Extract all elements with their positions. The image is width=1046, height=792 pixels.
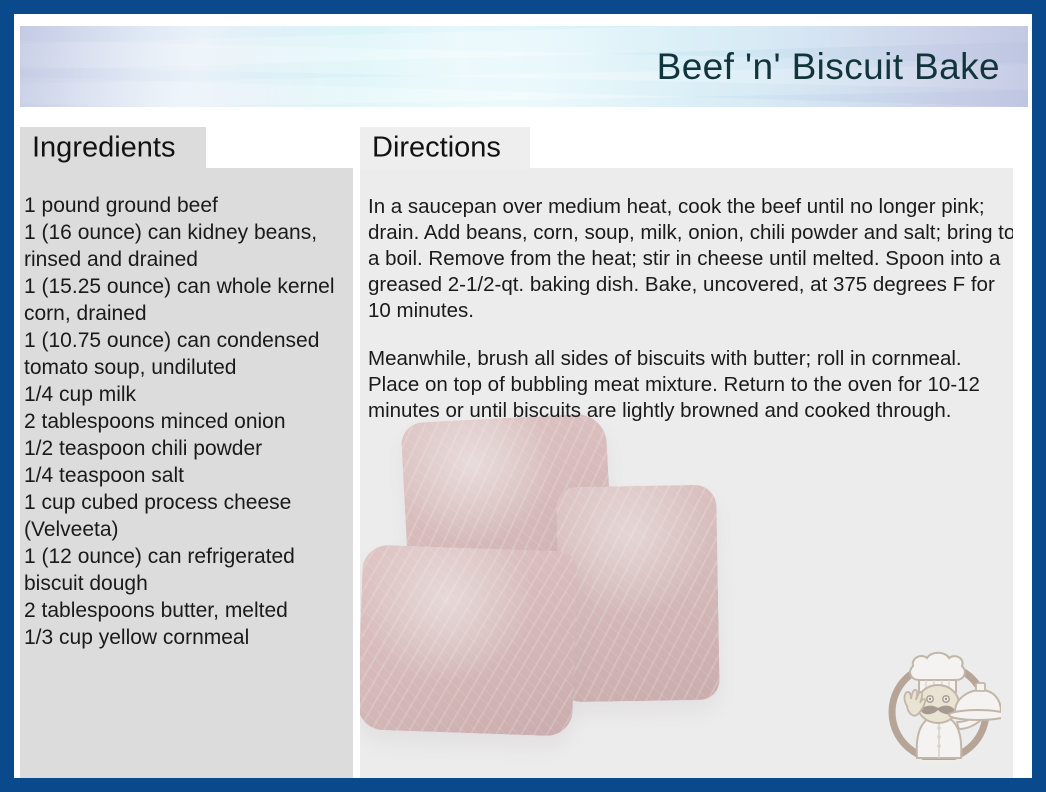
tab-ingredients[interactable]: Ingredients [20,127,206,169]
list-item: 1/4 cup milk [24,381,346,408]
list-item: 1/3 cup yellow cornmeal [24,624,346,651]
frame-border-right [1032,0,1046,792]
tab-ingredients-label: Ingredients [32,132,176,165]
list-item: 1 pound ground beef [24,192,346,219]
directions-text: In a saucepan over medium heat, cook the… [368,194,1013,446]
list-item: 1 (16 ounce) can kidney beans, rinsed an… [24,219,346,273]
list-item: 2 tablespoons minced onion [24,408,346,435]
frame-border-bottom [0,778,1046,792]
frame-border-top [0,0,1046,14]
frame-border-left [0,0,14,792]
list-item: 1/4 teaspoon salt [24,462,346,489]
ingredients-list: 1 pound ground beef 1 (16 ounce) can kid… [24,192,346,651]
beef-photo [360,408,760,778]
beef-texture [556,485,720,703]
recipe-title: Beef 'n' Biscuit Bake [657,46,1000,88]
beef-cube-right [556,485,720,703]
beef-texture [360,544,578,736]
directions-panel: In a saucepan over medium heat, cook the… [360,168,1013,778]
tab-directions[interactable]: Directions [360,127,530,169]
chef-logo-icon [877,642,1001,770]
beef-cube-front [360,544,578,736]
directions-paragraph: In a saucepan over medium heat, cook the… [368,194,1013,324]
list-item: 1 (12 ounce) can refrigerated biscuit do… [24,543,346,597]
ingredients-panel: 1 pound ground beef 1 (16 ounce) can kid… [20,168,353,778]
tab-directions-label: Directions [372,132,501,165]
list-item: 1/2 teaspoon chili powder [24,435,346,462]
header-banner: Beef 'n' Biscuit Bake [20,26,1028,107]
list-item: 1 (10.75 ounce) can condensed tomato sou… [24,327,346,381]
list-item: 1 cup cubed process cheese (Velveeta) [24,489,346,543]
directions-paragraph: Meanwhile, brush all sides of biscuits w… [368,346,1013,424]
list-item: 1 (15.25 ounce) can whole kernel corn, d… [24,273,346,327]
recipe-card-page: Beef 'n' Biscuit Bake Ingredients 1 poun… [0,0,1046,792]
list-item: 2 tablespoons butter, melted [24,597,346,624]
